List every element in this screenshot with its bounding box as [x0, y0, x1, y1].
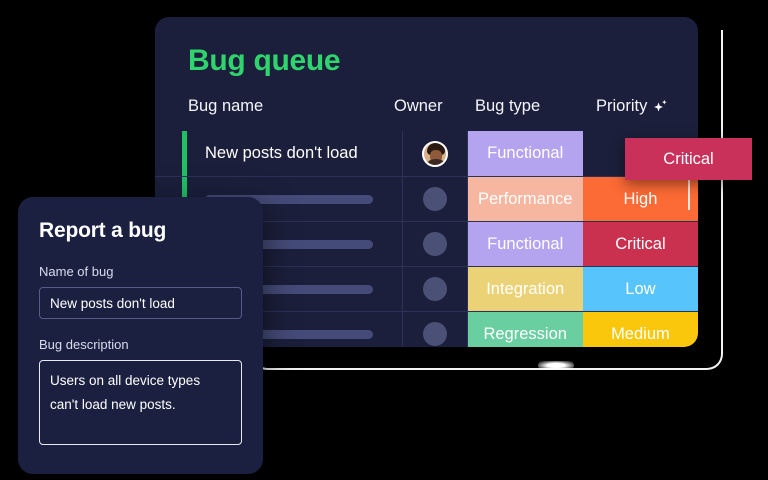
cell-priority: Critical: [583, 222, 698, 266]
column-header-priority-label: Priority: [596, 97, 647, 116]
device-notch-indicator: [538, 361, 574, 370]
cell-owner: [403, 267, 467, 311]
row-accent-bar: [182, 131, 187, 176]
column-header-bug-name: Bug name: [188, 97, 263, 116]
floating-critical-badge[interactable]: Critical: [625, 138, 752, 180]
cell-owner: [403, 222, 467, 266]
cell-owner: [403, 312, 467, 347]
avatar[interactable]: [422, 141, 448, 167]
cell-bug-type: Performance: [468, 177, 583, 221]
table-header-row: Bug name Owner Bug type Priority: [155, 89, 698, 131]
column-header-priority: Priority: [596, 97, 669, 116]
bug-description-textarea[interactable]: [39, 360, 242, 445]
name-of-bug-label: Name of bug: [39, 264, 242, 279]
bug-name-text: New posts don't load: [205, 144, 358, 163]
cell-bug-name: New posts don't load: [188, 131, 403, 176]
bug-description-label: Bug description: [39, 337, 242, 352]
cell-priority: Low: [583, 267, 698, 311]
cell-priority: High: [583, 177, 698, 221]
table-row[interactable]: New posts don't loadFunctional: [155, 131, 698, 176]
cell-bug-type: Integration: [468, 267, 583, 311]
sparkle-icon: [652, 98, 669, 115]
screenshot-root: Bug queue Bug name Owner Bug type Priori…: [0, 0, 768, 480]
cell-owner: [403, 131, 467, 176]
cell-bug-type: Regression: [468, 312, 583, 347]
avatar-placeholder: [423, 322, 447, 346]
report-card-title: Report a bug: [39, 219, 242, 243]
avatar-placeholder: [423, 232, 447, 256]
cell-bug-type: Functional: [468, 222, 583, 266]
avatar-placeholder: [423, 277, 447, 301]
column-header-bug-type: Bug type: [475, 97, 540, 116]
avatar-placeholder: [423, 187, 447, 211]
name-of-bug-input[interactable]: [39, 287, 242, 319]
column-header-owner: Owner: [394, 97, 443, 116]
page-title: Bug queue: [188, 44, 340, 78]
report-a-bug-card: Report a bug Name of bug Bug description: [18, 197, 263, 474]
cell-priority: Medium: [583, 312, 698, 347]
badge-connector-line: [688, 180, 690, 210]
cell-bug-type: Functional: [468, 131, 583, 176]
cell-owner: [403, 177, 467, 221]
